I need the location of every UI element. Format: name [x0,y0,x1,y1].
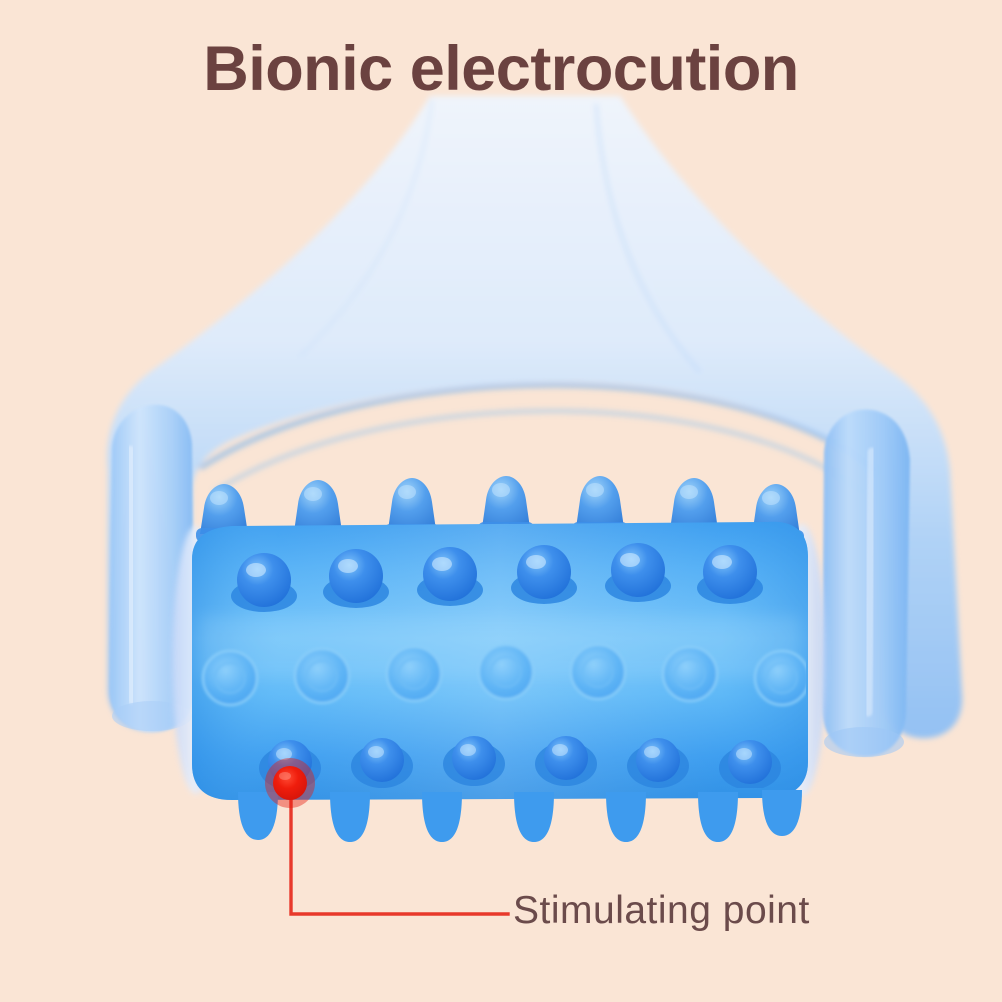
stimulating-point-label: Stimulating point [513,889,810,933]
stimulating-point-marker[interactable] [265,758,315,808]
product-illustration [0,0,1002,1002]
handle-right-arm [822,409,910,757]
callout-leader-line [291,790,508,914]
infographic-canvas: Bionic electrocution [0,0,1002,1002]
